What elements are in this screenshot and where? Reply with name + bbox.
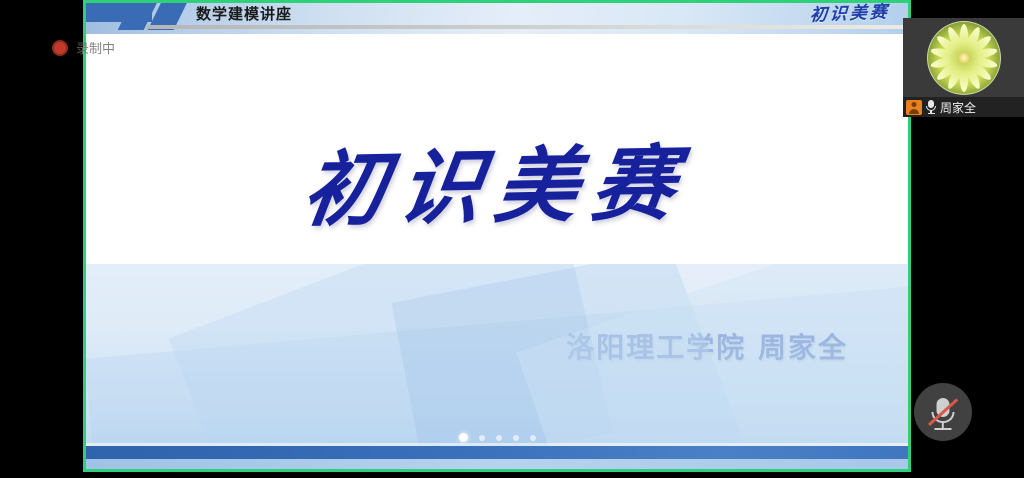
participant-video-tile[interactable]: 周家全: [903, 18, 1024, 117]
slide-header-title: 数学建模讲座: [196, 3, 292, 24]
microphone-muted-icon[interactable]: [914, 383, 972, 441]
letterbox-left: [0, 0, 83, 478]
header-rule: [146, 25, 908, 29]
microphone-icon: [926, 100, 936, 114]
participant-name: 周家全: [940, 99, 976, 116]
pagination-dot[interactable]: [496, 435, 502, 441]
slide-header-handwritten-title: 初识美赛: [809, 0, 890, 26]
screen-share-border-top: [83, 0, 911, 3]
pagination-dot[interactable]: [530, 435, 536, 441]
pagination-dot[interactable]: [459, 433, 468, 442]
person-badge-icon: [906, 100, 922, 115]
slide-pagination[interactable]: [86, 433, 908, 442]
recording-indicator[interactable]: 录制中: [52, 38, 115, 57]
screen-share-viewer: 数学建模讲座 初识美赛 初识美赛 洛阳理工学院 周家全 录制中: [0, 0, 1024, 478]
slide-header-band: 数学建模讲座 初识美赛: [86, 0, 908, 34]
avatar-center: [958, 53, 969, 64]
record-dot-icon: [52, 40, 68, 56]
slide-bottom-bar: [86, 446, 908, 459]
pagination-dot[interactable]: [479, 435, 485, 441]
video-tile-footer: 周家全: [903, 97, 1024, 117]
presentation-slide: 数学建模讲座 初识美赛 初识美赛 洛阳理工学院 周家全: [86, 0, 908, 469]
slide-main-title: 初识美赛: [86, 113, 908, 246]
recording-label: 录制中: [76, 38, 115, 57]
flower-avatar: [927, 21, 1001, 95]
slide-bottom-soft-bar: [86, 459, 908, 469]
letterbox-bottom: [0, 472, 1024, 478]
pagination-dot[interactable]: [513, 435, 519, 441]
